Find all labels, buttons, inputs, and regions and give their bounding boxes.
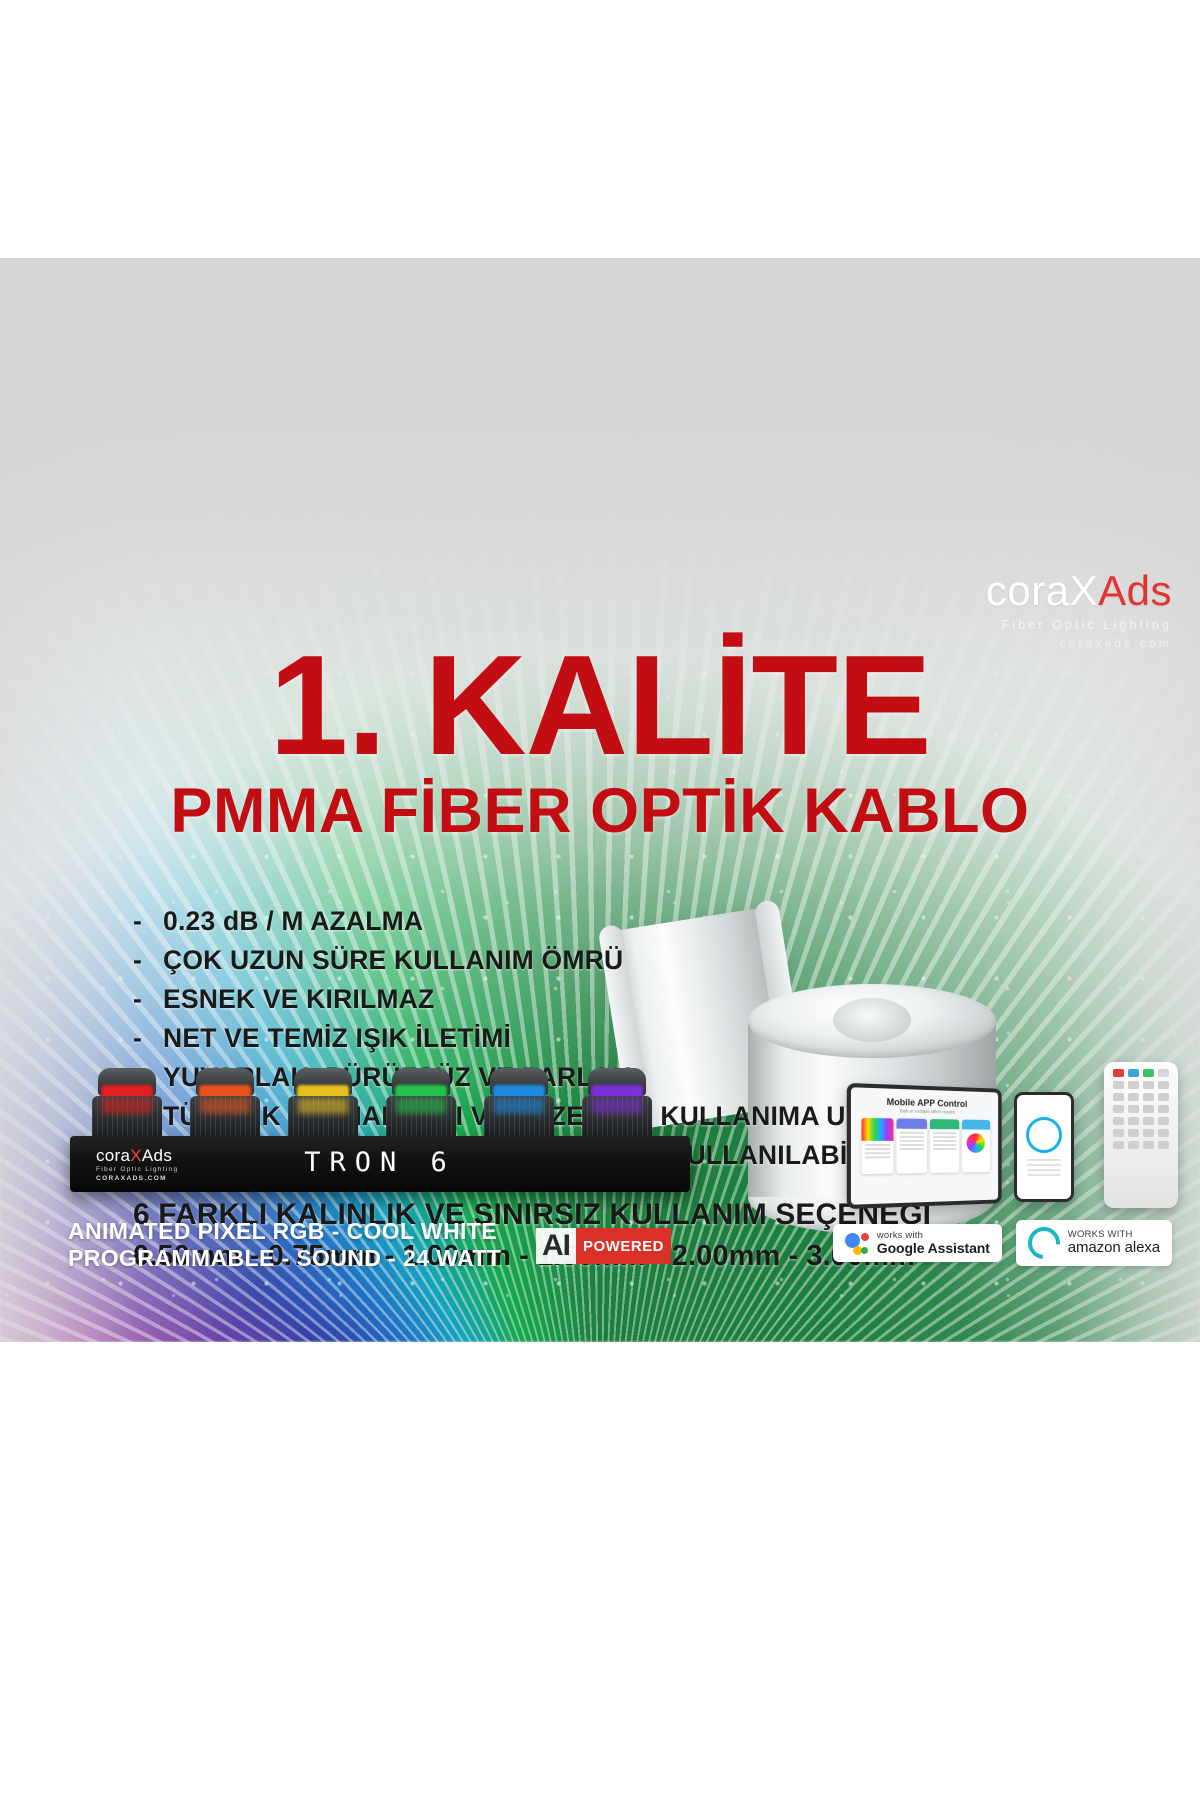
list-item: - ÇOK UZUN SÜRE KULLANIM ÖMRÜ — [133, 945, 923, 976]
google-assistant-icon — [845, 1231, 869, 1255]
product-creative: coraXAds Fiber Optic Lighting coraxads.c… — [0, 258, 1200, 1342]
bottom-caption-line1: ANIMATED PIXEL RGB - COOL WHITE — [68, 1218, 501, 1245]
ai-badge-suffix: POWERED — [576, 1228, 671, 1264]
bottom-caption: ANIMATED PIXEL RGB - COOL WHITE PROGRAMM… — [68, 1218, 501, 1272]
alexa-badge-bottom-text: amazon alexa — [1068, 1240, 1160, 1256]
google-badge-bottom-text: Google Assistant — [877, 1241, 990, 1256]
phone-mockup — [1014, 1092, 1074, 1202]
headline-block: 1. KALİTE PMMA FİBER OPTİK KABLO — [0, 638, 1200, 843]
controller-model-label: TRON 6 — [304, 1147, 456, 1178]
controller-knob — [582, 1068, 652, 1142]
feature-text: ÇOK UZUN SÜRE KULLANIM ÖMRÜ — [163, 945, 623, 976]
assistant-badges: works with Google Assistant WORKS WITH a… — [833, 1220, 1172, 1266]
brand-name-part1: cora — [986, 567, 1070, 614]
brand-wordmark: coraXAds — [986, 570, 1172, 612]
app-preview-palette — [861, 1118, 893, 1174]
brand-name-part2: Ads — [1098, 567, 1172, 614]
bullet-dash-icon: - — [133, 906, 163, 937]
tablet-mockup: Mobile APP Control Built-in multiple eff… — [847, 1083, 1002, 1209]
controller-knob — [190, 1068, 260, 1142]
amazon-alexa-badge: WORKS WITH amazon alexa — [1016, 1220, 1172, 1266]
headline-main: 1. KALİTE — [0, 638, 1200, 774]
ir-remote-mockup — [1104, 1062, 1178, 1208]
headline-sub: PMMA FİBER OPTİK KABLO — [0, 780, 1200, 843]
controller-rail: coraXAds Fiber Optic Lighting CORAXADS.C… — [70, 1136, 690, 1192]
brand-x-mark: X — [1070, 567, 1099, 614]
ai-badge-prefix: AI — [536, 1228, 576, 1264]
app-preview-color-wheel — [962, 1120, 990, 1173]
controller-brand-part1: cora — [96, 1146, 130, 1165]
controller-brand-tagline: Fiber Optic Lighting — [96, 1167, 178, 1174]
brand-tagline: Fiber Optic Lighting — [986, 619, 1172, 632]
controller-knob — [288, 1068, 358, 1142]
bullet-dash-icon: - — [133, 945, 163, 976]
bottom-caption-line2: PROGRAMMABLE - SOUND - 24 WATT — [68, 1245, 501, 1272]
controller-knob — [92, 1068, 162, 1142]
feature-text: 0.23 dB / M AZALMA — [163, 906, 423, 937]
ai-powered-badge: AI POWERED — [536, 1228, 671, 1264]
controller-brand-label: coraXAds Fiber Optic Lighting CORAXADS.C… — [96, 1147, 178, 1182]
amazon-alexa-icon — [1021, 1220, 1066, 1265]
phone-dial-icon — [1026, 1117, 1062, 1153]
controller-brand-wordmark: coraXAds — [96, 1147, 178, 1164]
list-item: - 0.23 dB / M AZALMA — [133, 906, 923, 937]
advertisement-page: coraXAds Fiber Optic Lighting coraxads.c… — [0, 0, 1200, 1800]
controller-brand-x: X — [130, 1146, 142, 1165]
controller-brand-part2: Ads — [142, 1146, 172, 1165]
phone-content-lines — [1017, 1159, 1071, 1176]
tron6-controller: coraXAds Fiber Optic Lighting CORAXADS.C… — [70, 1062, 690, 1192]
companion-devices: Mobile APP Control Built-in multiple eff… — [848, 1054, 1178, 1214]
google-assistant-badge: works with Google Assistant — [833, 1224, 1002, 1263]
app-preview-modes — [929, 1119, 958, 1173]
controller-knob — [386, 1068, 456, 1142]
tablet-app-previews — [851, 1118, 998, 1175]
app-preview-scenes — [896, 1118, 927, 1173]
controller-brand-url: CORAXADS.COM — [96, 1176, 178, 1183]
bottom-product-band: coraXAds Fiber Optic Lighting CORAXADS.C… — [0, 1010, 1200, 1342]
controller-knob — [484, 1068, 554, 1142]
